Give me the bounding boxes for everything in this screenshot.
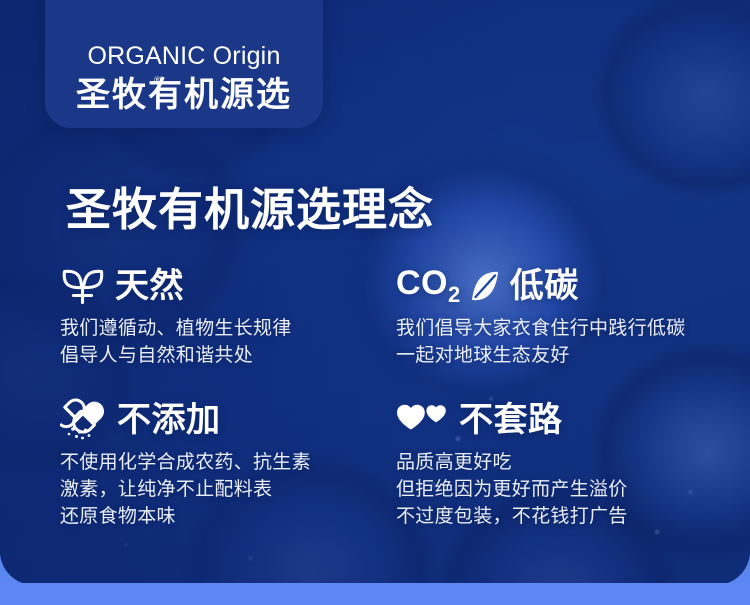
brand-english-name: ORGANIC Origin xyxy=(87,44,280,69)
leaf-icon xyxy=(468,268,502,304)
brand-logo-plate: ORGANIC Origin 圣牧有机源选 ® xyxy=(45,0,323,128)
feature-no-additives-line-1: 不使用化学合成农药、抗生素 xyxy=(60,450,396,477)
brand-chinese-wrap: 圣牧有机源选 ® xyxy=(76,78,292,112)
feature-no-tricks-line-1: 品质高更好吃 xyxy=(396,450,720,477)
registered-trademark-icon: ® xyxy=(154,76,161,85)
feature-natural-line-2: 倡导人与自然和谐共处 xyxy=(60,343,396,370)
feature-no-additives-title: 不添加 xyxy=(117,403,221,437)
feature-low-carbon-body: 我们倡导大家衣食住行中践行低碳 一起对地球生态友好 xyxy=(396,316,720,370)
feature-no-additives-head: 不添加 xyxy=(60,398,396,442)
feature-natural: 天然 我们遵循动、植物生长规律 倡导人与自然和谐共处 xyxy=(60,264,396,370)
feature-natural-head: 天然 xyxy=(60,264,396,308)
promo-poster: ORGANIC Origin 圣牧有机源选 ® 圣牧有机源选理念 天然 xyxy=(0,0,750,605)
sprout-icon xyxy=(60,267,106,305)
feature-no-tricks-title: 不套路 xyxy=(459,403,563,437)
brand-chinese-name: 圣牧有机源选 xyxy=(76,76,292,114)
bottom-accent-band xyxy=(0,583,750,605)
co2-subscript: 2 xyxy=(448,282,461,307)
feature-no-additives-line-2: 激素，让纯净不止配料表 xyxy=(60,477,396,504)
co2-formula: CO2 xyxy=(396,266,461,306)
hearts-icon xyxy=(396,402,450,438)
feature-no-tricks-body: 品质高更好吃 但拒绝因为更好而产生溢价 不过度包装，不花钱打广告 xyxy=(396,450,720,531)
feature-low-carbon: CO2 低碳 我们倡导大家衣食住行中践行低碳 一起对地球生态友好 xyxy=(396,264,720,370)
feature-low-carbon-line-1: 我们倡导大家衣食住行中践行低碳 xyxy=(396,316,720,343)
feature-natural-body: 我们遵循动、植物生长规律 倡导人与自然和谐共处 xyxy=(60,316,396,370)
feature-no-tricks-head: 不套路 xyxy=(396,398,720,442)
page-title: 圣牧有机源选理念 xyxy=(66,186,434,235)
feature-low-carbon-line-2: 一起对地球生态友好 xyxy=(396,343,720,370)
feature-no-additives: 不添加 不使用化学合成农药、抗生素 激素，让纯净不止配料表 还原食物本味 xyxy=(60,398,396,531)
co2-letters: CO xyxy=(396,264,448,302)
capsule-icon xyxy=(60,398,108,442)
feature-no-additives-line-3: 还原食物本味 xyxy=(60,504,396,531)
feature-natural-title: 天然 xyxy=(115,269,184,303)
feature-no-tricks-line-3: 不过度包装，不花钱打广告 xyxy=(396,504,720,531)
feature-low-carbon-head: CO2 低碳 xyxy=(396,264,720,308)
feature-no-tricks-line-2: 但拒绝因为更好而产生溢价 xyxy=(396,477,720,504)
feature-grid: 天然 我们遵循动、植物生长规律 倡导人与自然和谐共处 CO2 低碳 我们 xyxy=(60,264,720,531)
feature-no-additives-body: 不使用化学合成农药、抗生素 激素，让纯净不止配料表 还原食物本味 xyxy=(60,450,396,531)
feature-no-tricks: 不套路 品质高更好吃 但拒绝因为更好而产生溢价 不过度包装，不花钱打广告 xyxy=(396,398,720,531)
feature-natural-line-1: 我们遵循动、植物生长规律 xyxy=(60,316,396,343)
feature-low-carbon-title: 低碳 xyxy=(510,269,579,303)
